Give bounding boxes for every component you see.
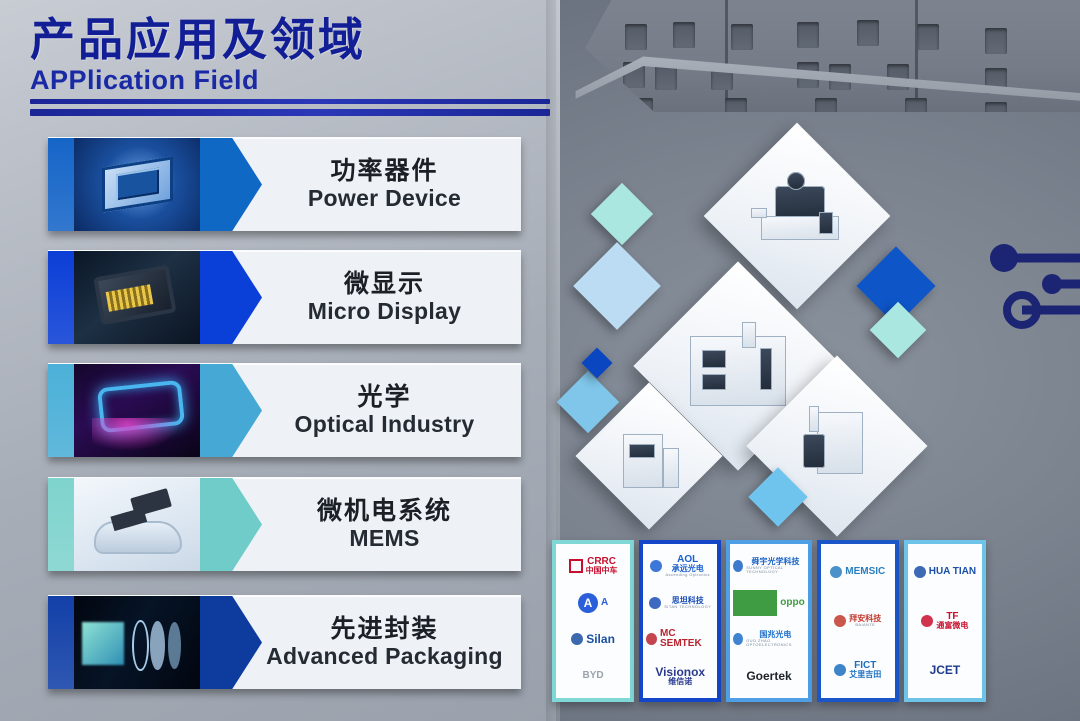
logo-text-semtek: MC SEMTEK: [660, 629, 714, 649]
circuit-dot-1: [990, 244, 1018, 272]
category-image: [74, 364, 200, 457]
category-chevron-arrow: [200, 596, 262, 689]
category-image: [74, 596, 200, 689]
category-label-cn: 微显示: [344, 270, 425, 298]
logo-sunny[interactable]: 舜宇光学科技SUNNY OPTICAL TECHNOLOGY: [733, 553, 804, 579]
category-panel-advanced-packaging[interactable]: 先进封装Advanced Packaging: [48, 595, 521, 689]
fict-icon: [834, 664, 846, 676]
category-label-group: 光学Optical Industry: [262, 364, 521, 457]
page-title-en: APPlication Field: [30, 65, 550, 96]
equipment-photo-1: [731, 150, 863, 282]
logo-text-jcet: JCET: [930, 664, 961, 676]
logo-sub-gzgd: GUO ZHAO OPTOELECTRONICS: [746, 639, 805, 647]
logo-visionox[interactable]: Visionox维信诺: [646, 663, 714, 689]
logo-column-3[interactable]: 舜宇光学科技SUNNY OPTICAL TECHNOLOGYoppo国兆光电GU…: [726, 540, 811, 702]
category-color-strip: [48, 251, 74, 344]
category-thumbnail-mems: [48, 478, 200, 571]
category-color-strip: [48, 478, 74, 571]
category-color-strip: [48, 364, 74, 457]
logo-aol[interactable]: AOL承远光电Ascending Optronics: [646, 553, 714, 579]
crrc-icon: [569, 559, 583, 573]
silan-icon: [571, 633, 583, 645]
category-label-en: Micro Display: [308, 298, 461, 325]
category-label-cn: 功率器件: [330, 157, 438, 185]
logo-column-4[interactable]: MEMSIC拜安科技BAIANTEFICT艾里吉田: [817, 540, 899, 702]
logo-text-goertek: Goertek: [746, 670, 791, 682]
category-label-en: Advanced Packaging: [266, 643, 503, 670]
logo-column-5[interactable]: HUA TIANTF通富微电JCET: [904, 540, 986, 702]
logo-baiante[interactable]: 拜安科技BAIANTE: [824, 608, 892, 634]
logo-text-a-mark: A: [601, 598, 608, 608]
category-panel-micro-display[interactable]: 微显示Micro Display: [48, 250, 521, 344]
logo-sub-aol: Ascending Optronics: [665, 573, 710, 577]
category-label-cn: 光学: [357, 383, 411, 411]
category-image: [74, 478, 200, 571]
category-label-group: 先进封装Advanced Packaging: [262, 596, 521, 689]
equipment-photo-3: [597, 404, 701, 508]
logo-column-2[interactable]: AOL承远光电Ascending Optronics思坦科技SITAN TECH…: [639, 540, 721, 702]
aol-icon: [650, 560, 662, 572]
category-chevron-arrow: [200, 251, 262, 344]
logo-oppo[interactable]: oppo: [733, 590, 804, 616]
logo-tfme[interactable]: TF通富微电: [911, 608, 979, 634]
category-thumbnail-advanced-packaging: [48, 596, 200, 689]
logo-column-1[interactable]: CRRC中国中车AASilanBYD: [552, 540, 634, 702]
category-color-strip: [48, 138, 74, 231]
logo-semtek[interactable]: MC SEMTEK: [646, 626, 714, 652]
logo-goertek[interactable]: Goertek: [733, 663, 804, 689]
a-mark-icon: A: [578, 593, 598, 613]
category-label-en: Optical Industry: [295, 411, 475, 438]
category-label-group: 微显示Micro Display: [262, 251, 521, 344]
memsic-icon: [830, 566, 842, 578]
logo-text-oppo: oppo: [780, 598, 804, 608]
category-panel-power-device[interactable]: 功率器件Power Device: [48, 137, 521, 231]
logo-cn-tfme: 通富微电: [936, 622, 968, 630]
huatian-icon: [914, 566, 926, 578]
circuit-dot-2: [1042, 274, 1062, 294]
title-underline-top: [30, 99, 550, 104]
logo-fict[interactable]: FICT艾里吉田: [824, 657, 892, 683]
logo-text-huatian: HUA TIAN: [929, 567, 976, 577]
category-chevron-arrow: [200, 138, 262, 231]
gzgd-icon: [733, 633, 743, 645]
baiante-icon: [834, 615, 846, 627]
logo-a-mark[interactable]: AA: [559, 590, 627, 616]
category-label-en: MEMS: [349, 525, 419, 552]
tfme-icon: [921, 615, 933, 627]
category-thumbnail-optical-industry: [48, 364, 200, 457]
logo-text-memsic: MEMSIC: [845, 567, 885, 577]
logo-sub-sunny: SUNNY OPTICAL TECHNOLOGY: [746, 566, 805, 574]
category-image: [74, 138, 200, 231]
category-panel-optical-industry[interactable]: 光学Optical Industry: [48, 363, 521, 457]
logo-byd[interactable]: BYD: [559, 663, 627, 689]
oppo-swatch: [733, 590, 777, 616]
category-label-cn: 先进封装: [330, 615, 438, 643]
title-underline-bottom: [30, 109, 550, 116]
logo-text-silan: Silan: [586, 633, 615, 645]
semtek-icon: [646, 633, 657, 645]
category-label-cn: 微机电系统: [317, 497, 452, 525]
logo-sub-baiante: BAIANTE: [855, 623, 875, 627]
logo-cn-fict: 艾里吉田: [849, 671, 881, 679]
category-chevron-arrow: [200, 478, 262, 571]
ceiling-structure-panel: [585, 0, 1080, 112]
logo-gzgd[interactable]: 国兆光电GUO ZHAO OPTOELECTRONICS: [733, 626, 804, 652]
category-label-group: 微机电系统MEMS: [262, 478, 521, 571]
logo-text-byd: BYD: [583, 671, 604, 681]
circuit-trace-decoration: [960, 222, 1080, 372]
logo-crrc[interactable]: CRRC中国中车: [559, 553, 627, 579]
category-thumbnail-micro-display: [48, 251, 200, 344]
logo-sub-sitan: SITAN TECHNOLOGY: [664, 605, 711, 609]
category-thumbnail-power-device: [48, 138, 200, 231]
category-panel-mems[interactable]: 微机电系统MEMS: [48, 477, 521, 571]
logo-huatian[interactable]: HUA TIAN: [911, 559, 979, 585]
logo-cn-crrc: 中国中车: [586, 567, 618, 575]
logo-cn-visionox: 维信诺: [668, 678, 692, 686]
logo-silan[interactable]: Silan: [559, 626, 627, 652]
category-label-en: Power Device: [308, 185, 461, 212]
logo-sitan[interactable]: 思坦科技SITAN TECHNOLOGY: [646, 590, 714, 616]
category-label-group: 功率器件Power Device: [262, 138, 521, 231]
partner-logo-board: CRRC中国中车AASilanBYDAOL承远光电Ascending Optro…: [552, 540, 986, 702]
category-chevron-arrow: [200, 364, 262, 457]
logo-text-visionox: Visionox: [655, 666, 705, 678]
logo-jcet[interactable]: JCET: [911, 657, 979, 683]
category-image: [74, 251, 200, 344]
sunny-icon: [733, 560, 743, 572]
category-color-strip: [48, 596, 74, 689]
logo-memsic[interactable]: MEMSIC: [824, 559, 892, 585]
page-title: 产品应用及领域 APPlication Field: [30, 16, 550, 116]
sitan-icon: [649, 597, 661, 609]
page-title-cn: 产品应用及领域: [30, 16, 550, 63]
